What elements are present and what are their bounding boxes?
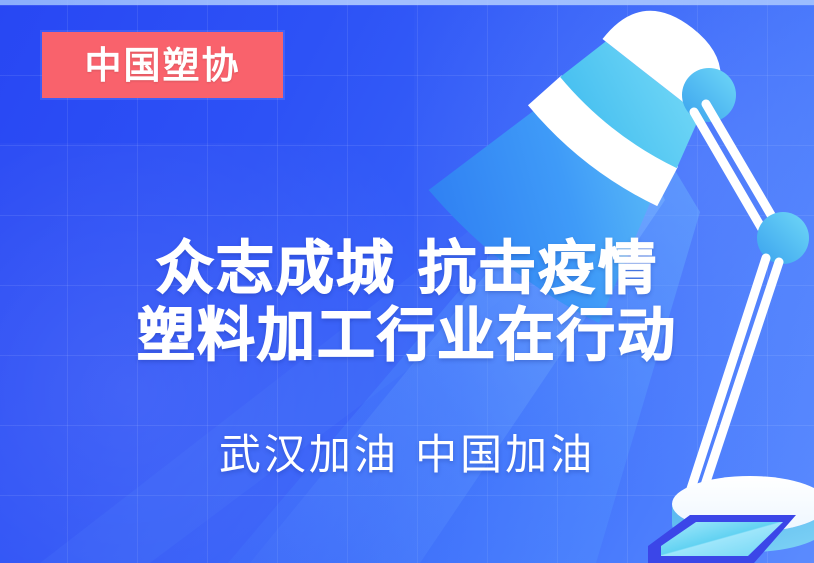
poster-canvas: 中国塑协 众志成城 抗击疫情 塑料加工行业在行动 武汉加油 中国加油	[0, 0, 814, 563]
arm-rod-right	[706, 104, 781, 232]
upper-joint-ball	[682, 68, 736, 122]
subtitle-text: 武汉加油 中国加油	[0, 432, 814, 478]
organization-badge: 中国塑协	[42, 32, 283, 98]
subtitle: 武汉加油 中国加油	[0, 432, 814, 478]
top-edge-strip	[0, 0, 814, 5]
headline-line-1: 众志成城 抗击疫情	[0, 236, 814, 301]
headline-line-2: 塑料加工行业在行动	[0, 303, 814, 368]
page-title: 众志成城 抗击疫情 塑料加工行业在行动	[0, 236, 814, 368]
lamp-base	[672, 476, 814, 552]
arm-rod-left	[694, 112, 772, 246]
tablet	[648, 515, 796, 563]
organization-badge-label: 中国塑协	[85, 47, 241, 84]
